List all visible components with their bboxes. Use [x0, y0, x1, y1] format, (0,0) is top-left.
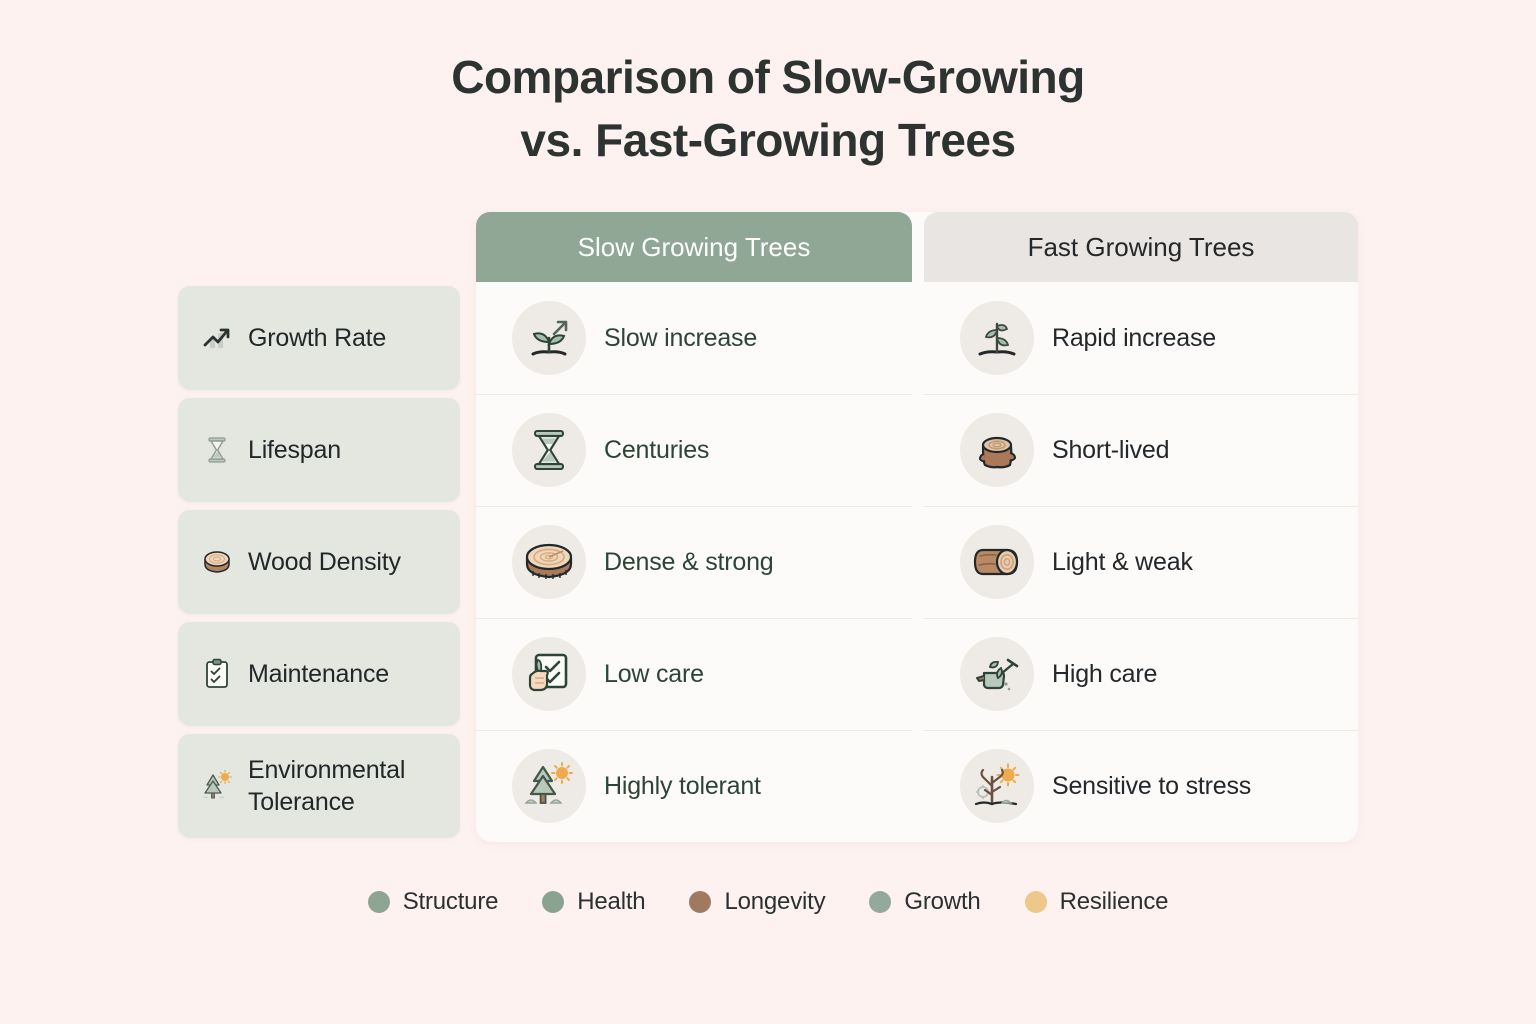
legend: Structure Health Longevity Growth Resili… [0, 888, 1536, 916]
header-fast-growing: Fast Growing Trees [924, 212, 1358, 282]
header-fast-growing-label: Fast Growing Trees [1028, 232, 1255, 263]
table-row-label-text: Lifespan [248, 434, 341, 466]
seedling-arrow-icon [512, 301, 586, 375]
cell-slow-maintenance-text: Low care [604, 660, 704, 689]
legend-dot-icon [1025, 891, 1047, 913]
cell-fast-maintenance-text: High care [1052, 660, 1157, 689]
table-row-label-text: Growth Rate [248, 322, 386, 354]
legend-dot-icon [368, 891, 390, 913]
legend-dot-icon [689, 891, 711, 913]
page-title-line-1: Comparison of Slow-Growing [0, 46, 1536, 109]
tree-stump-icon [960, 413, 1034, 487]
legend-item-label: Structure [403, 888, 499, 916]
cell-slow-environmental-tolerance: Highly tolerant [476, 730, 912, 842]
legend-dot-icon [869, 891, 891, 913]
hourglass-icon [200, 433, 234, 467]
legend-item-label: Growth [904, 888, 980, 916]
header-label-column [178, 212, 476, 282]
cell-fast-environmental-tolerance-text: Sensitive to stress [1052, 772, 1251, 801]
cell-slow-growth-rate: Slow increase [476, 282, 912, 394]
table-row-label-text: Maintenance [248, 658, 389, 690]
cell-slow-maintenance: Low care [476, 618, 912, 730]
cell-slow-wood-density-text: Dense & strong [604, 548, 774, 577]
cell-fast-wood-density: Light & weak [924, 506, 1358, 618]
comparison-table: Slow Growing Trees Fast Growing Trees Gr… [178, 212, 1358, 842]
table-row-label-text: Wood Density [248, 546, 401, 578]
cell-fast-maintenance: High care [924, 618, 1358, 730]
cell-fast-lifespan-text: Short-lived [1052, 436, 1169, 465]
tree-rings-icon [512, 525, 586, 599]
table-row-label-maintenance: Maintenance [178, 622, 460, 726]
table-row-label-growth-rate: Growth Rate [178, 286, 460, 390]
page-title: Comparison of Slow-Growing vs. Fast-Grow… [0, 46, 1536, 173]
cell-fast-growth-rate: Rapid increase [924, 282, 1358, 394]
cell-slow-wood-density: Dense & strong [476, 506, 912, 618]
legend-item-resilience: Resilience [1025, 888, 1169, 916]
tree-rings-icon [200, 545, 234, 579]
sprout-icon [960, 301, 1034, 375]
legend-item-health: Health [542, 888, 645, 916]
cell-fast-wood-density-text: Light & weak [1052, 548, 1193, 577]
legend-item-structure: Structure [368, 888, 499, 916]
table-row-label-lifespan: Lifespan [178, 398, 460, 502]
thumbs-up-clipboard-icon [512, 637, 586, 711]
header-slow-growing-label: Slow Growing Trees [578, 232, 811, 263]
clipboard-check-icon [200, 657, 234, 691]
watering-can-icon [960, 637, 1034, 711]
cell-fast-environmental-tolerance: Sensitive to stress [924, 730, 1358, 842]
hourglass-icon [512, 413, 586, 487]
bare-tree-sun-icon [960, 749, 1034, 823]
legend-item-label: Resilience [1060, 888, 1169, 916]
cell-slow-lifespan-text: Centuries [604, 436, 709, 465]
tree-sun-icon [200, 769, 234, 803]
table-row-label-environmental-tolerance: Environmental Tolerance [178, 734, 460, 838]
page-title-line-2: vs. Fast-Growing Trees [0, 109, 1536, 172]
table-row-label-text: Environmental Tolerance [248, 754, 448, 818]
legend-item-longevity: Longevity [689, 888, 825, 916]
tree-sun-icon [512, 749, 586, 823]
infographic-page: Comparison of Slow-Growing vs. Fast-Grow… [0, 0, 1536, 1024]
cell-fast-growth-rate-text: Rapid increase [1052, 324, 1216, 353]
legend-dot-icon [542, 891, 564, 913]
log-icon [960, 525, 1034, 599]
cell-slow-lifespan: Centuries [476, 394, 912, 506]
cell-slow-environmental-tolerance-text: Highly tolerant [604, 772, 761, 801]
cell-slow-growth-rate-text: Slow increase [604, 324, 757, 353]
legend-item-label: Longevity [724, 888, 825, 916]
legend-item-label: Health [577, 888, 645, 916]
legend-item-growth: Growth [869, 888, 980, 916]
cell-fast-lifespan: Short-lived [924, 394, 1358, 506]
table-row-label-wood-density: Wood Density [178, 510, 460, 614]
header-slow-growing: Slow Growing Trees [476, 212, 912, 282]
chart-line-up-icon [200, 321, 234, 355]
